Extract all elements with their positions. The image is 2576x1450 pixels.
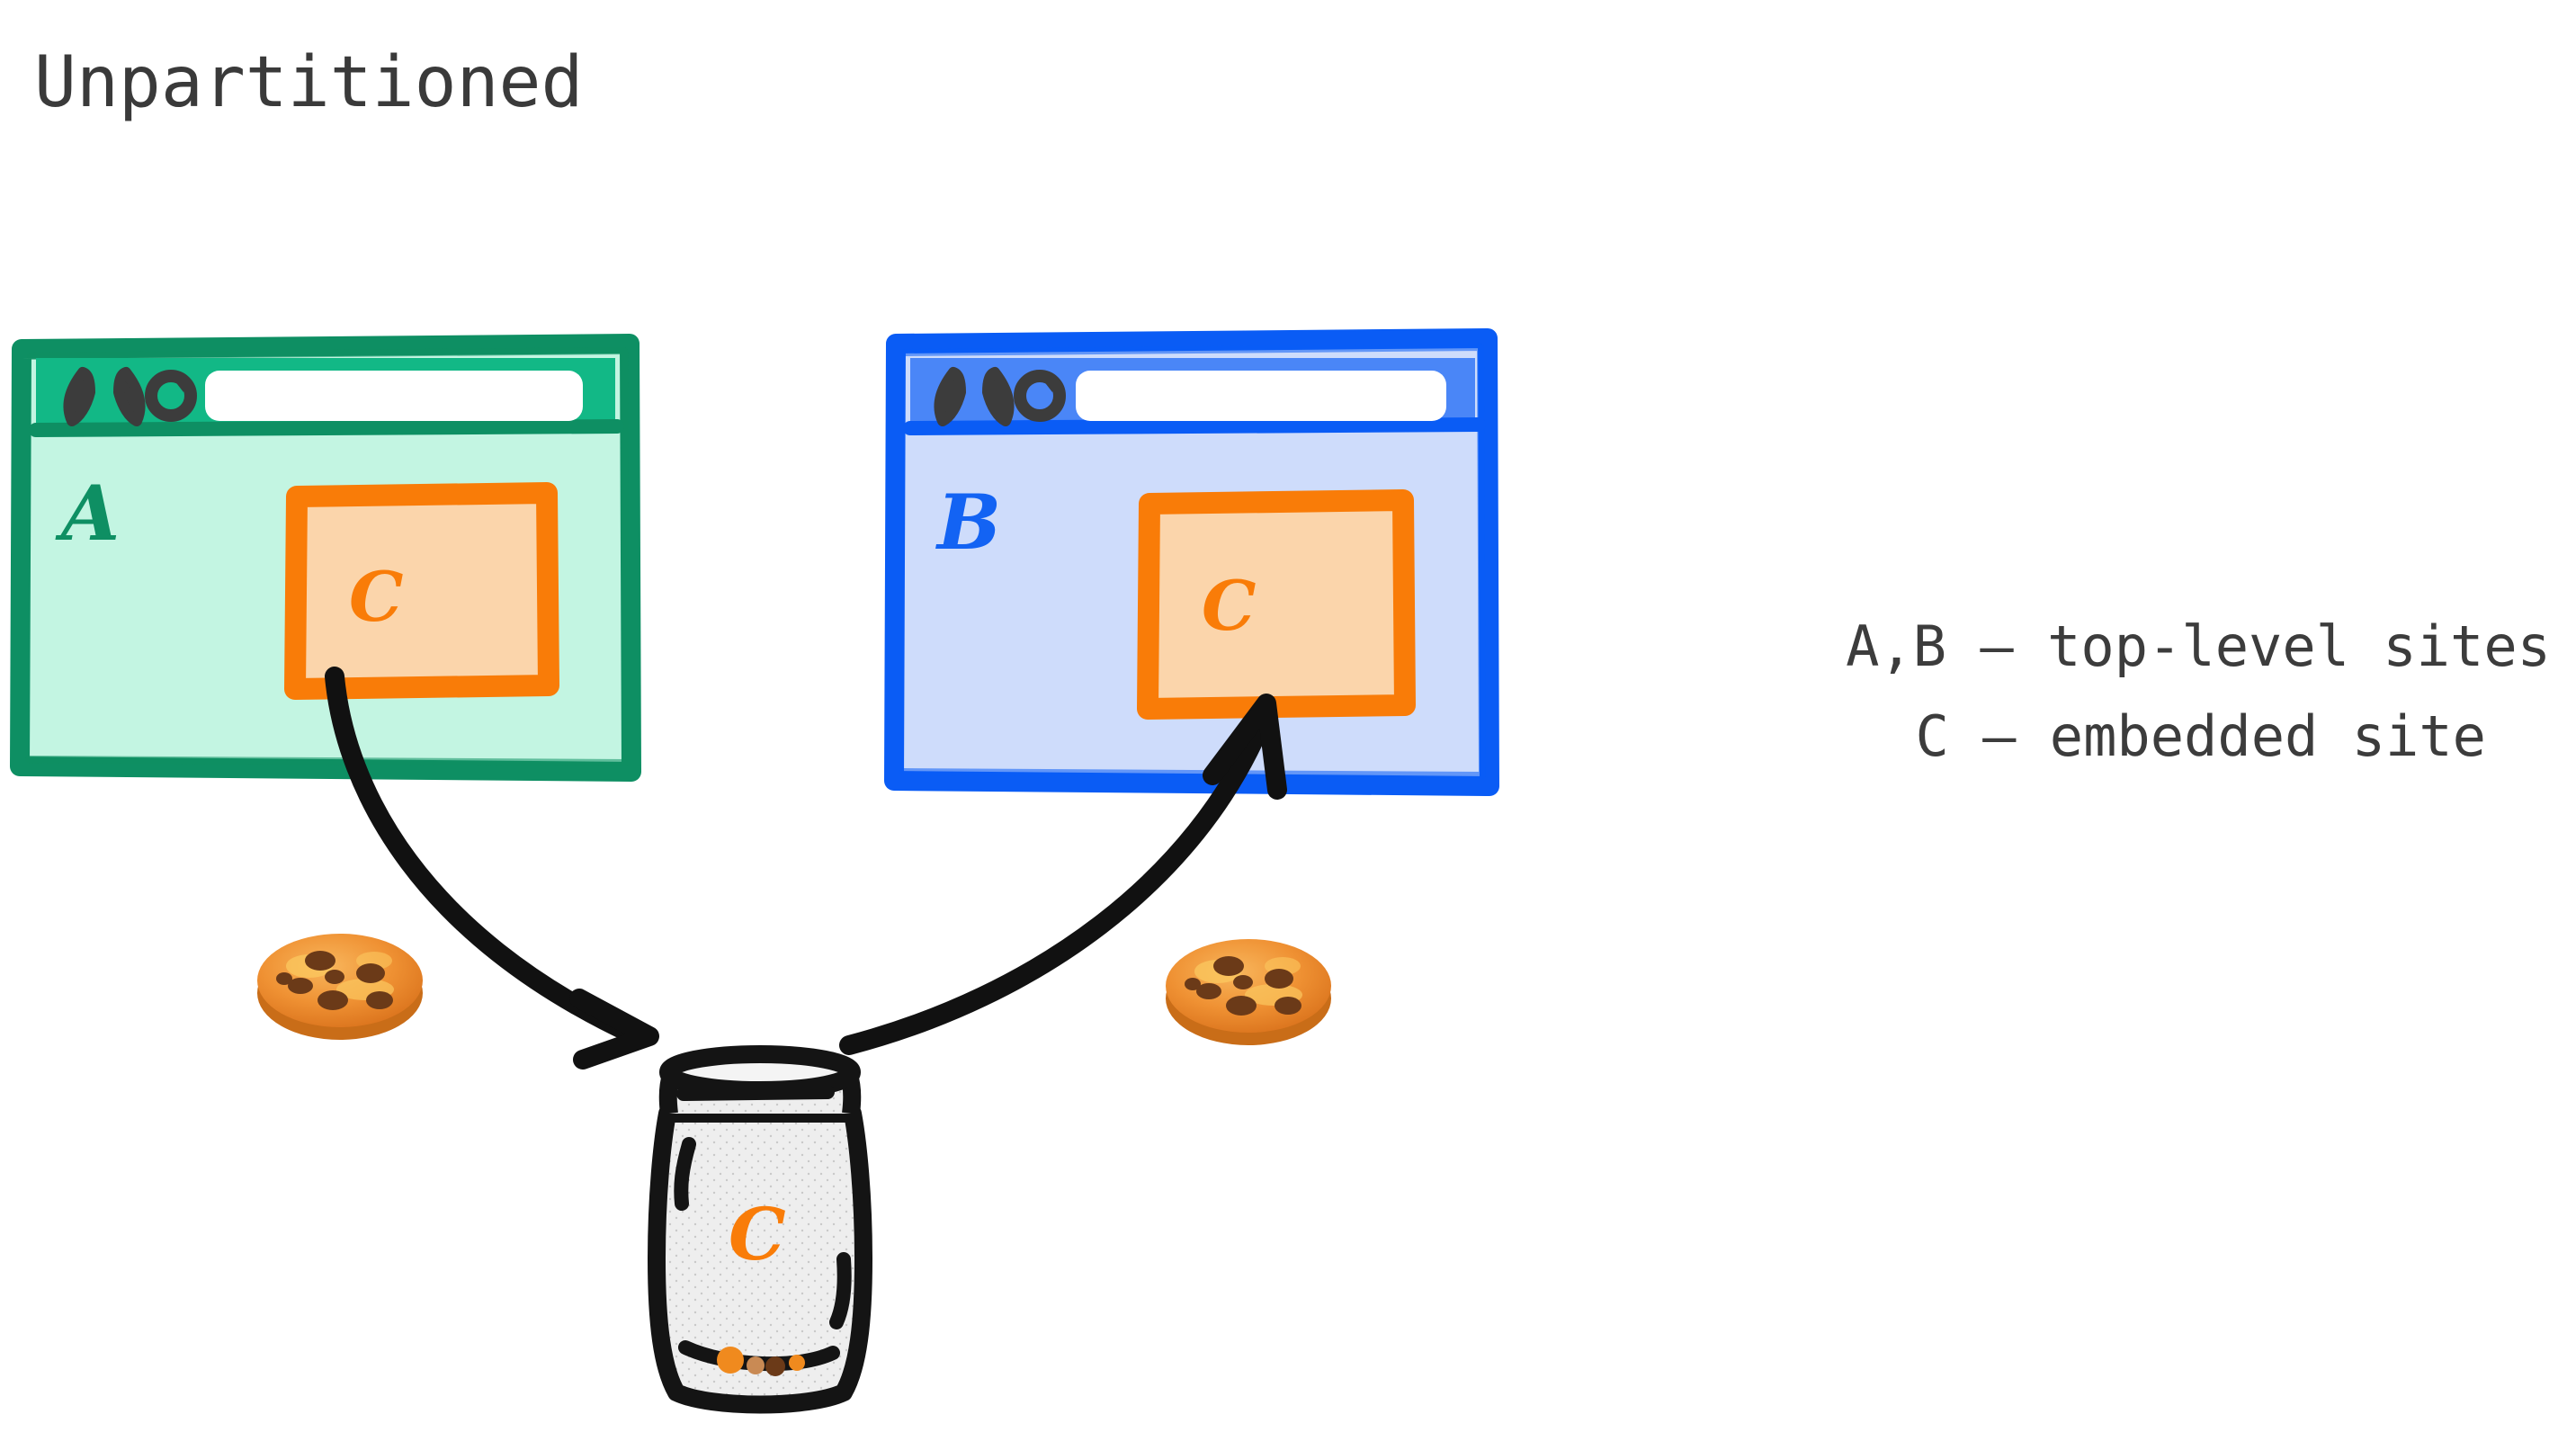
window-b-frame-c-label: C	[1202, 566, 1257, 646]
jar-crumb	[717, 1347, 744, 1374]
unpartitioned-cookies-diagram: Unpartitioned A C	[0, 0, 2576, 1450]
window-b-label: B	[935, 478, 1001, 567]
cookie-left	[257, 934, 423, 1040]
jar-crumb	[747, 1356, 765, 1374]
legend-line-1: A,B — top-level sites	[1846, 613, 2551, 679]
window-a-toolbar-divider	[36, 426, 617, 430]
window-a-urlbar[interactable]	[205, 371, 583, 421]
window-a[interactable]: A C	[20, 344, 631, 772]
jar-thread-line	[684, 1092, 827, 1094]
window-a-frame-c-box	[295, 493, 549, 689]
jar-crumb	[765, 1356, 785, 1376]
jar-highlight-right	[836, 1259, 845, 1322]
jar-crumb	[789, 1355, 805, 1371]
window-a-label: A	[55, 469, 120, 558]
window-b-frame-c-box	[1148, 500, 1405, 709]
cookie-right	[1166, 939, 1331, 1045]
page-title: Unpartitioned	[34, 42, 583, 123]
legend-line-2: C — embedded site	[1915, 703, 2486, 769]
cookie-jar: C	[657, 1054, 863, 1405]
jar-label: C	[729, 1192, 786, 1276]
window-b-frame-c[interactable]: C	[1148, 500, 1405, 709]
diagram-canvas: Unpartitioned A C	[0, 0, 2576, 1450]
window-b-toolbar-divider	[910, 425, 1479, 428]
window-b[interactable]: B C	[894, 338, 1489, 786]
jar-highlight-left	[681, 1144, 689, 1204]
jar-rim	[668, 1054, 852, 1090]
window-b-urlbar[interactable]	[1076, 371, 1446, 421]
window-a-frame-c[interactable]: C	[295, 493, 549, 689]
window-a-frame-c-label: C	[349, 557, 404, 637]
